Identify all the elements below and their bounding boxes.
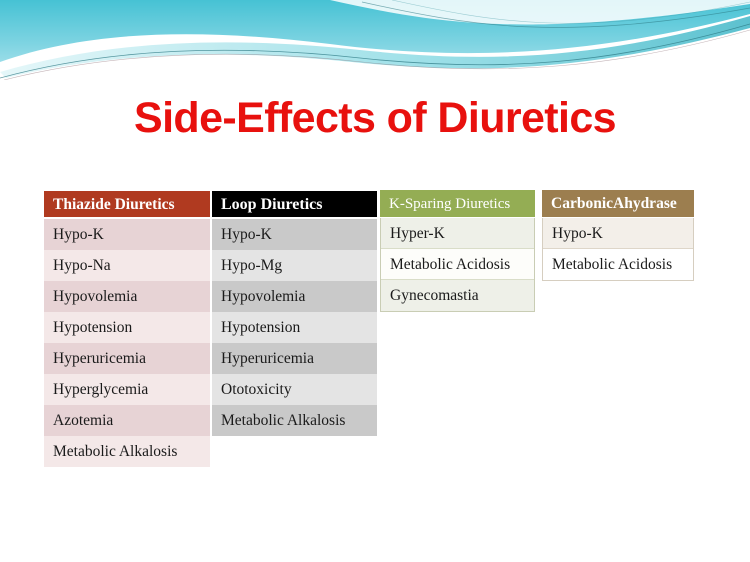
table-carbonic-anhydrase: CarbonicAhydrase Hypo-K Metabolic Acidos… [542, 191, 694, 281]
table-header-carbonic-anhydrase: CarbonicAhydrase [542, 190, 694, 218]
table-row: Metabolic Alkalosis [212, 405, 377, 436]
decorative-wave-banner [0, 0, 750, 80]
table-row: Hypotension [212, 312, 377, 343]
table-row: Gynecomastia [381, 280, 534, 311]
table-row: Metabolic Alkalosis [44, 436, 210, 467]
page-title: Side-Effects of Diuretics [0, 92, 750, 144]
table-row: Hypovolemia [44, 281, 210, 312]
table-thiazide-diuretics: Thiazide Diuretics Hypo-K Hypo-Na Hypovo… [44, 191, 210, 467]
table-row: Azotemia [44, 405, 210, 436]
table-row: Hyperglycemia [44, 374, 210, 405]
table-row: Metabolic Acidosis [543, 249, 693, 280]
table-row: Hypovolemia [212, 281, 377, 312]
wave-graphic [0, 0, 750, 80]
table-loop-diuretics: Loop Diuretics Hypo-K Hypo-Mg Hypovolemi… [212, 191, 377, 436]
table-row: Hyper-K [381, 218, 534, 249]
table-header-loop: Loop Diuretics [212, 191, 377, 219]
table-row: Hypo-K [44, 219, 210, 250]
table-row: Hypo-Mg [212, 250, 377, 281]
table-header-k-sparing: K-Sparing Diuretics [380, 190, 535, 218]
table-row: Hypo-K [212, 219, 377, 250]
table-row: Metabolic Acidosis [381, 249, 534, 280]
table-k-sparing-diuretics: K-Sparing Diuretics Hyper-K Metabolic Ac… [380, 191, 535, 312]
table-header-thiazide: Thiazide Diuretics [44, 191, 210, 219]
table-row: Hypo-K [543, 218, 693, 249]
table-row: Hyperuricemia [212, 343, 377, 374]
table-row: Ototoxicity [212, 374, 377, 405]
slide-canvas: Side-Effects of Diuretics Thiazide Diure… [0, 0, 750, 562]
table-row: Hypotension [44, 312, 210, 343]
table-row: Hyperuricemia [44, 343, 210, 374]
table-row: Hypo-Na [44, 250, 210, 281]
side-effects-tables: Thiazide Diuretics Hypo-K Hypo-Na Hypovo… [44, 191, 704, 491]
